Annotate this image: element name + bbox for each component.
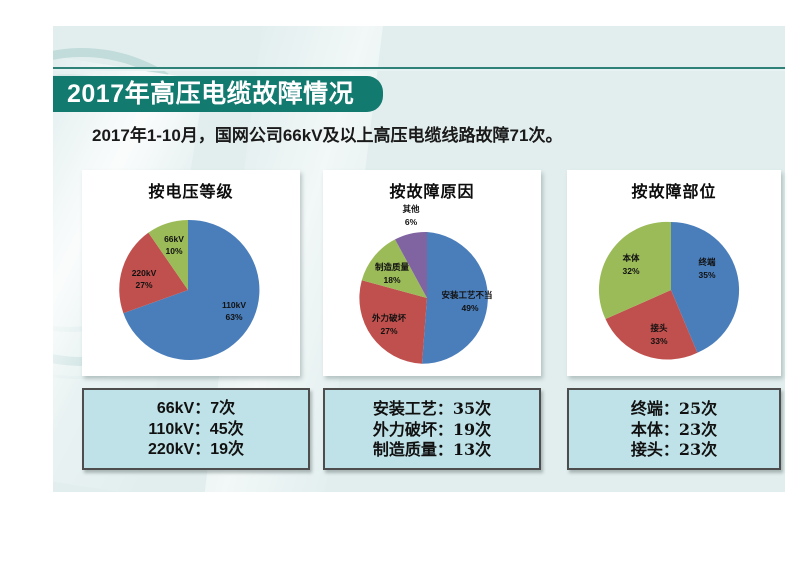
chart-title-voltage-level: 按电压等级: [82, 178, 300, 202]
summary-box-voltage-level: 66kV：7次 110kV：45次 220kV：19次: [82, 388, 310, 470]
summary-line: 本体：23次: [631, 420, 717, 440]
pie-label-110kv-value: 63%: [225, 312, 242, 322]
pie-slices-failure-location: [599, 222, 739, 360]
pie-label-joint-name: 接头: [650, 323, 668, 333]
chart-title-failure-cause: 按故障原因: [323, 178, 541, 202]
chart-card-voltage-level: 按电压等级 110kV 63% 220kV 27% 66kV: [82, 170, 300, 376]
summary-line: 220kV：19次: [148, 440, 244, 460]
pie-label-220kv-name: 220kV: [132, 268, 157, 278]
pie-chart-voltage-level: 110kV 63% 220kV 27% 66kV 10%: [82, 200, 300, 374]
pie-label-body-value: 32%: [622, 266, 639, 276]
pie-chart-failure-location: 终端 35% 接头 33% 本体 32%: [567, 200, 781, 374]
pie-label-other-name: 其他: [402, 204, 420, 214]
subtitle-text: 2017年1-10月，国网公司66kV及以上高压电缆线路故障71次。: [92, 121, 562, 146]
pie-svg-failure-location: 终端 35% 接头 33% 本体 32%: [567, 200, 781, 374]
summary-line: 110kV：45次: [148, 420, 243, 440]
pie-label-220kv-value: 27%: [135, 280, 152, 290]
chart-card-row: 按电压等级 110kV 63% 220kV 27% 66kV: [82, 170, 738, 376]
summary-box-failure-location: 终端：25次 本体：23次 接头：23次: [567, 388, 781, 470]
pie-label-66kv-name: 66kV: [164, 234, 184, 244]
summary-line: 66kV：7次: [157, 399, 235, 419]
pie-label-joint-value: 33%: [650, 336, 667, 346]
chart-card-failure-location: 按故障部位 终端 35% 接头 33% 本体 3: [567, 170, 781, 376]
pie-label-terminal-name: 终端: [697, 257, 716, 267]
pie-label-installation-value: 49%: [461, 303, 478, 313]
pie-label-external-force-value: 27%: [380, 326, 397, 336]
pie-label-terminal-value: 35%: [698, 270, 715, 280]
pie-label-other-value: 6%: [405, 217, 418, 227]
title-banner: 2017年高压电缆故障情况: [53, 76, 383, 112]
pie-label-installation-name: 安装工艺不当: [441, 290, 492, 300]
summary-box-failure-cause: 安装工艺：35次 外力破坏：19次 制造质量：13次: [323, 388, 541, 470]
pie-label-manufacturing-name: 制造质量: [375, 262, 410, 272]
summary-line: 安装工艺：35次: [373, 399, 491, 419]
pie-label-66kv-value: 10%: [165, 246, 182, 256]
slide: 2017年高压电缆故障情况 2017年1-10月，国网公司66kV及以上高压电缆…: [0, 0, 800, 566]
summary-line: 外力破坏：19次: [373, 420, 491, 440]
chart-title-failure-location: 按故障部位: [567, 178, 781, 202]
summary-line: 终端：25次: [631, 399, 717, 419]
pie-svg-failure-cause: 安装工艺不当 49% 外力破坏 27% 制造质量 18% 其他 6%: [323, 200, 541, 374]
pie-chart-failure-cause: 安装工艺不当 49% 外力破坏 27% 制造质量 18% 其他 6%: [323, 200, 541, 374]
chart-card-failure-cause: 按故障原因 安装工艺不当 49% 外力破坏: [323, 170, 541, 376]
page-title: 2017年高压电缆故障情况: [67, 82, 354, 107]
pie-label-body-name: 本体: [622, 253, 640, 263]
summary-line: 制造质量：13次: [373, 440, 491, 460]
pie-svg-voltage-level: 110kV 63% 220kV 27% 66kV 10%: [82, 200, 300, 374]
pie-label-manufacturing-value: 18%: [383, 275, 400, 285]
pie-label-110kv-name: 110kV: [222, 300, 246, 310]
summary-line: 接头：23次: [631, 440, 717, 460]
pie-label-external-force-name: 外力破坏: [371, 313, 407, 323]
header-rule-highlight: [53, 69, 785, 71]
summary-box-row: 66kV：7次 110kV：45次 220kV：19次 安装工艺：35次 外力破…: [82, 388, 738, 470]
